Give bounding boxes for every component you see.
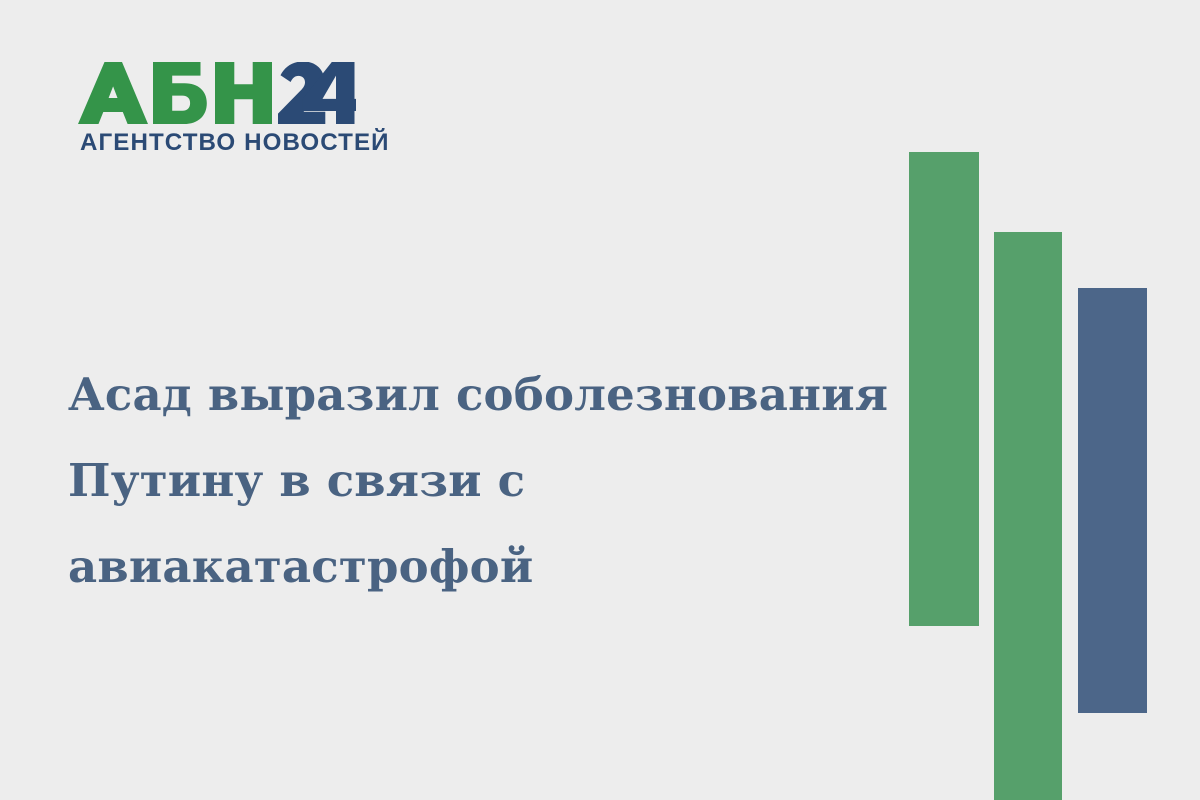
headline-line-2: Путину в связи с	[68, 438, 868, 524]
headline-line-3: авиакатастрофой	[68, 524, 868, 610]
logo-tagline: АГЕНТСТВО НОВОСТЕЙ	[80, 131, 364, 156]
decorative-bar-mid-green	[994, 232, 1062, 800]
abn24-logo-icon	[78, 62, 356, 124]
logo[interactable]: АГЕНТСТВО НОВОСТЕЙ	[78, 62, 368, 156]
page-title: Асад выразил соболезнования Путину в свя…	[68, 352, 868, 610]
decorative-bar-short-blue	[1078, 288, 1147, 713]
news-card: АГЕНТСТВО НОВОСТЕЙ Асад выразил соболезн…	[0, 0, 1200, 800]
decorative-bar-tall-green	[909, 152, 979, 626]
headline-line-1: Асад выразил соболезнования	[68, 352, 868, 438]
